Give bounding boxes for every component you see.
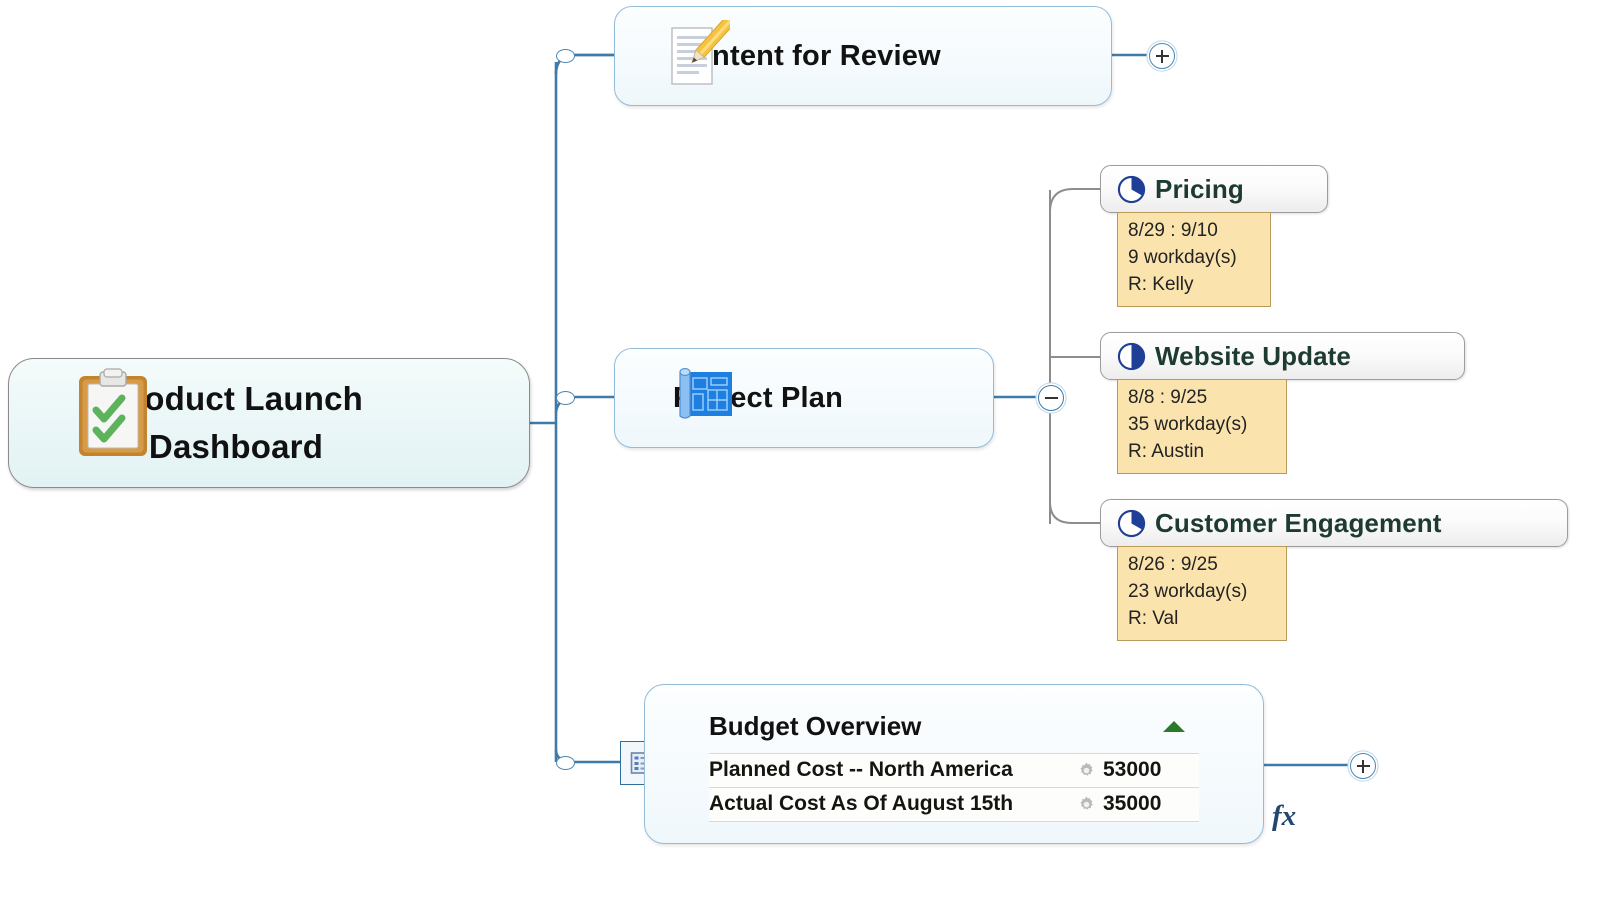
budget-title-row: Budget Overview xyxy=(709,711,1199,742)
table-row[interactable]: Planned Cost -- North America 53000 xyxy=(709,754,1199,788)
budget-row-gear[interactable] xyxy=(1069,788,1103,822)
gear-icon xyxy=(1078,762,1095,779)
formula-fx-mark[interactable]: fx xyxy=(1272,800,1296,833)
table-row[interactable]: Actual Cost As Of August 15th 35000 xyxy=(709,788,1199,822)
expand-content-for-review-button[interactable] xyxy=(1149,43,1175,69)
budget-row-value: 53000 xyxy=(1103,754,1199,788)
trunk-connector-budget[interactable] xyxy=(556,756,575,770)
task-dates: 8/8 : 9/25 xyxy=(1128,385,1276,412)
subtopic-pricing[interactable]: Pricing xyxy=(1100,165,1328,213)
subtopic-customer-engagement[interactable]: Customer Engagement xyxy=(1100,499,1568,547)
task-info-customer-engagement: 8/26 : 9/25 23 workday(s) R: Val xyxy=(1117,546,1287,641)
subtopic-website-update[interactable]: Website Update xyxy=(1100,332,1465,380)
pie-progress-icon xyxy=(1117,509,1146,538)
budget-row-name: Actual Cost As Of August 15th xyxy=(709,788,1069,822)
subtopic-customer-engagement-label: Customer Engagement xyxy=(1155,508,1442,539)
budget-overview-title: Budget Overview xyxy=(709,711,921,742)
plus-icon-v xyxy=(1161,50,1163,63)
subtopic-pricing-label: Pricing xyxy=(1155,174,1244,205)
task-duration: 9 workday(s) xyxy=(1128,245,1260,272)
subtopic-website-update-label: Website Update xyxy=(1155,341,1351,372)
budget-row-gear[interactable] xyxy=(1069,754,1103,788)
task-info-website-update: 8/8 : 9/25 35 workday(s) R: Austin xyxy=(1117,379,1287,474)
budget-row-value: 35000 xyxy=(1103,788,1199,822)
expand-budget-overview-button[interactable] xyxy=(1350,753,1376,779)
task-dates: 8/26 : 9/25 xyxy=(1128,552,1276,579)
topic-budget-overview[interactable]: Budget Overview Planned Cost -- North Am… xyxy=(644,684,1264,844)
task-resource: R: Kelly xyxy=(1128,272,1260,299)
trunk-connector-project-plan[interactable] xyxy=(556,391,575,405)
task-duration: 23 workday(s) xyxy=(1128,579,1276,606)
topic-project-plan[interactable]: Project Plan xyxy=(614,348,994,448)
pie-progress-icon xyxy=(1117,175,1146,204)
pie-progress-icon xyxy=(1117,342,1146,371)
task-resource: R: Austin xyxy=(1128,439,1276,466)
task-dates: 8/29 : 9/10 xyxy=(1128,218,1260,245)
mindmap-canvas: Product Launch Dashboard Content for Rev… xyxy=(0,0,1600,900)
minus-icon xyxy=(1045,397,1058,399)
task-duration: 35 workday(s) xyxy=(1128,412,1276,439)
budget-table: Planned Cost -- North America 53000 Actu… xyxy=(709,753,1199,822)
collapse-project-plan-button[interactable] xyxy=(1038,385,1064,411)
memo-pencil-icon xyxy=(668,20,730,90)
clipboard-check-icon xyxy=(76,368,150,460)
ascending-triangle-icon[interactable] xyxy=(1163,721,1185,732)
trunk-connector-content[interactable] xyxy=(556,49,575,63)
task-resource: R: Val xyxy=(1128,606,1276,633)
blueprint-icon xyxy=(672,362,738,428)
gear-icon xyxy=(1078,796,1095,813)
task-info-pricing: 8/29 : 9/10 9 workday(s) R: Kelly xyxy=(1117,212,1271,307)
budget-row-name: Planned Cost -- North America xyxy=(709,754,1069,788)
plus-icon-v xyxy=(1362,760,1364,773)
